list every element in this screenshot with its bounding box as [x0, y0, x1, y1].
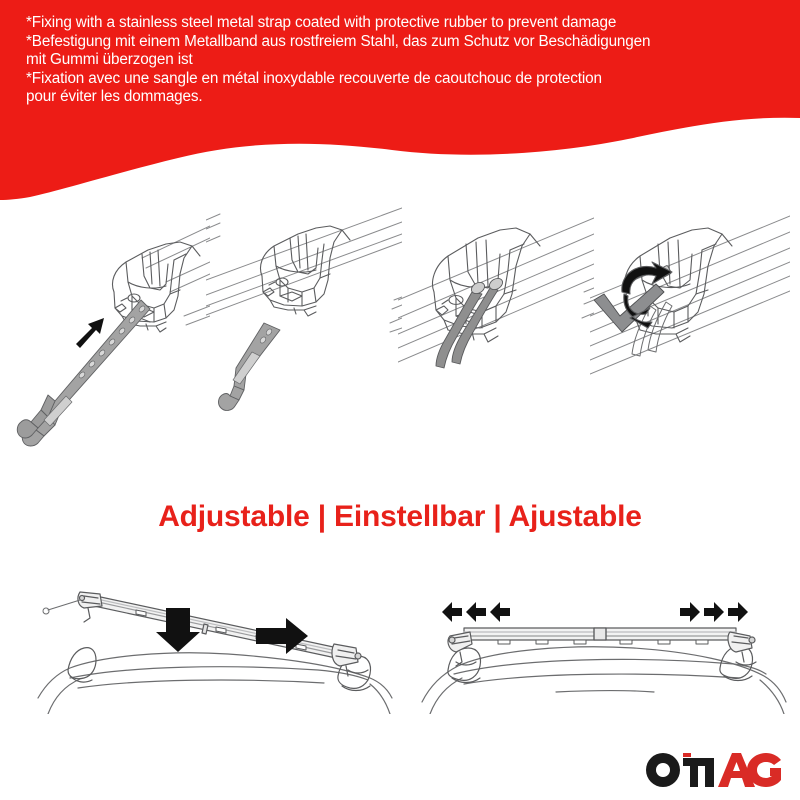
cross-bar-right-foot	[332, 644, 368, 676]
adjustable-heading: Adjustable | Einstellbar | Ajustable	[0, 500, 800, 534]
triple-left-arrow	[442, 602, 510, 622]
cross-bar	[464, 628, 736, 644]
installation-steps-row	[0, 196, 800, 464]
left-roof-rail	[68, 648, 96, 682]
rack-foot-housing	[433, 228, 540, 342]
product-infographic: *Fixing with a stainless steel metal str…	[0, 0, 800, 800]
omac-logo	[642, 744, 782, 792]
diagram-adjust-width	[408, 566, 792, 714]
install-step-2-position-strap	[206, 196, 402, 464]
cross-bar-left-foot	[78, 592, 102, 622]
logo-accent-dot	[683, 753, 691, 757]
red-banner: *Fixing with a stainless steel metal str…	[0, 0, 800, 200]
cross-bar-right-foot	[728, 632, 756, 665]
triple-right-arrow	[680, 602, 748, 622]
roof-rail	[142, 226, 210, 325]
install-step-3-wrap-strap	[398, 196, 594, 464]
install-step-4-tighten-bolt	[590, 196, 790, 464]
banner-description-text: *Fixing with a stainless steel metal str…	[26, 14, 786, 107]
roof-rail	[590, 216, 790, 374]
logo-letter-M	[683, 758, 714, 787]
install-step-1-insert-strap	[14, 196, 210, 464]
cross-bar	[94, 596, 338, 658]
diagram-lower-crossbar	[18, 566, 402, 714]
loose-strap-line	[43, 600, 80, 614]
rack-foot-housing	[261, 226, 351, 316]
roof-rail	[206, 208, 402, 332]
up-arrow	[76, 318, 104, 348]
logo-letter-O	[646, 753, 680, 787]
